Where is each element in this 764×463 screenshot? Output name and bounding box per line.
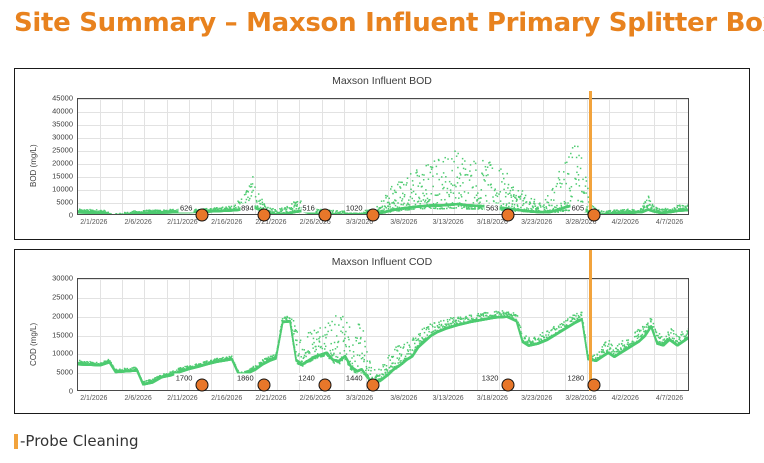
bod-chart-title: Maxson Influent BOD xyxy=(15,75,749,87)
marker-value-label: 1320 xyxy=(481,373,500,382)
x-axis-tick-label: 3/23/2026 xyxy=(521,219,552,226)
y-axis-tick-label: 30000 xyxy=(52,133,73,142)
probe-cleaning-marker[interactable] xyxy=(257,378,270,391)
y-axis-tick-label: 20000 xyxy=(52,311,73,320)
marker-value-label: 1860 xyxy=(236,373,255,382)
probe-cleaning-line xyxy=(589,250,592,391)
probe-cleaning-line xyxy=(589,91,592,215)
x-axis-tick-label: 2/16/2026 xyxy=(211,219,242,226)
x-axis-tick-label: 2/21/2026 xyxy=(255,395,286,402)
x-axis-tick-label: 3/18/2026 xyxy=(477,219,508,226)
y-axis-tick-label: 25000 xyxy=(52,292,73,301)
series-points xyxy=(78,279,688,390)
cod-plot-area xyxy=(77,278,689,391)
x-axis-tick-label: 4/2/2026 xyxy=(612,219,639,226)
x-axis-tick-label: 3/8/2026 xyxy=(390,219,417,226)
x-axis-tick-label: 3/28/2026 xyxy=(565,395,596,402)
marker-value-label: 1240 xyxy=(297,373,316,382)
y-axis-tick-label: 15000 xyxy=(52,172,73,181)
y-axis-tick-label: 0 xyxy=(69,211,73,220)
x-axis-tick-label: 2/11/2026 xyxy=(167,395,198,402)
probe-cleaning-marker[interactable] xyxy=(366,378,379,391)
marker-value-label: 516 xyxy=(301,204,316,213)
series-points xyxy=(78,99,688,214)
legend-label: -Probe Cleaning xyxy=(20,432,139,450)
marker-value-label: 894 xyxy=(240,204,255,213)
marker-value-label: 563 xyxy=(485,204,500,213)
x-axis-tick-label: 2/1/2026 xyxy=(80,219,107,226)
marker-value-label: 1280 xyxy=(566,373,585,382)
probe-cleaning-marker[interactable] xyxy=(318,378,331,391)
y-axis-tick-label: 10000 xyxy=(52,185,73,194)
y-axis-tick-label: 15000 xyxy=(52,330,73,339)
x-axis-tick-label: 3/13/2026 xyxy=(433,219,464,226)
probe-cleaning-marker-icon xyxy=(14,434,18,449)
x-axis-tick-label: 2/16/2026 xyxy=(211,395,242,402)
x-axis-tick-label: 4/7/2026 xyxy=(656,219,683,226)
cod-chart-panel: Maxson Influent COD COD (mg/L) 050001000… xyxy=(14,249,750,414)
y-axis-tick-label: 20000 xyxy=(52,159,73,168)
bod-y-axis-label: BOD (mg/L) xyxy=(29,144,38,187)
probe-cleaning-marker[interactable] xyxy=(196,209,209,222)
marker-value-label: 605 xyxy=(571,204,586,213)
y-axis-tick-label: 45000 xyxy=(52,94,73,103)
probe-cleaning-marker[interactable] xyxy=(196,378,209,391)
probe-cleaning-marker[interactable] xyxy=(366,209,379,222)
x-axis-tick-label: 2/6/2026 xyxy=(124,395,151,402)
x-axis-tick-label: 3/18/2026 xyxy=(477,395,508,402)
x-axis-tick-label: 3/23/2026 xyxy=(521,395,552,402)
y-axis-tick-label: 10000 xyxy=(52,349,73,358)
bod-chart-panel: Maxson Influent BOD BOD (mg/L) 050001000… xyxy=(14,68,750,240)
marker-value-label: 1020 xyxy=(345,204,364,213)
y-axis-tick-label: 30000 xyxy=(52,274,73,283)
cod-y-axis-label: COD (mg/L) xyxy=(29,323,38,366)
x-axis-tick-label: 3/8/2026 xyxy=(390,395,417,402)
y-axis-tick-label: 40000 xyxy=(52,107,73,116)
x-axis-tick-label: 2/11/2026 xyxy=(167,219,198,226)
probe-cleaning-marker[interactable] xyxy=(502,378,515,391)
x-axis-tick-label: 2/1/2026 xyxy=(80,395,107,402)
probe-cleaning-marker[interactable] xyxy=(588,209,601,222)
probe-cleaning-marker[interactable] xyxy=(257,209,270,222)
probe-cleaning-marker[interactable] xyxy=(502,209,515,222)
x-axis-tick-label: 3/13/2026 xyxy=(433,395,464,402)
marker-value-label: 1440 xyxy=(345,373,364,382)
y-axis-tick-label: 5000 xyxy=(56,198,73,207)
y-axis-tick-label: 0 xyxy=(69,387,73,396)
page-title: Site Summary – Maxson Influent Primary S… xyxy=(14,8,764,38)
x-axis-tick-label: 2/26/2026 xyxy=(300,395,331,402)
x-axis-tick-label: 4/7/2026 xyxy=(656,395,683,402)
bod-plot-area xyxy=(77,98,689,215)
y-axis-tick-label: 5000 xyxy=(56,368,73,377)
cod-chart-title: Maxson Influent COD xyxy=(15,256,749,268)
marker-value-label: 1700 xyxy=(175,373,194,382)
legend: -Probe Cleaning xyxy=(14,432,139,450)
x-axis-tick-label: 2/6/2026 xyxy=(124,219,151,226)
marker-value-label: 626 xyxy=(179,204,194,213)
probe-cleaning-marker[interactable] xyxy=(318,209,331,222)
x-axis-tick-label: 3/3/2026 xyxy=(346,395,373,402)
x-axis-tick-label: 4/2/2026 xyxy=(612,395,639,402)
probe-cleaning-marker[interactable] xyxy=(588,378,601,391)
y-axis-tick-label: 35000 xyxy=(52,120,73,129)
y-axis-tick-label: 25000 xyxy=(52,146,73,155)
